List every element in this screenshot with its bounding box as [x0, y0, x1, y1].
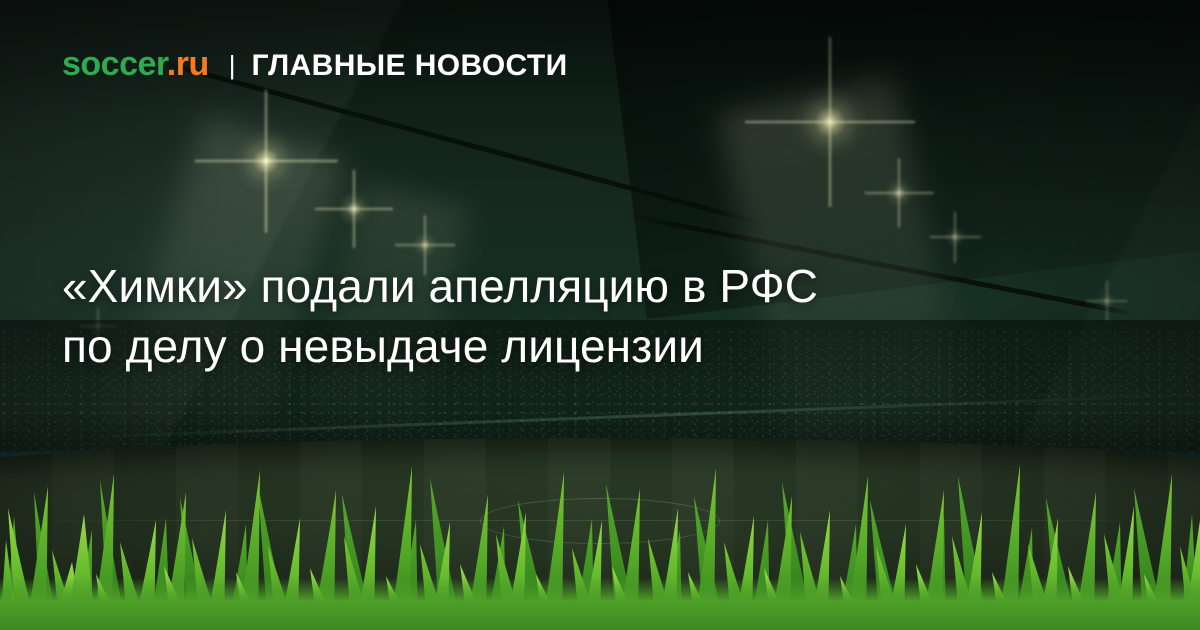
- soccer-ru-logo[interactable]: soccer.ru: [62, 47, 209, 81]
- header-separator: |: [229, 52, 236, 78]
- floodlight-icon: [337, 192, 371, 226]
- light-truss-icon: [150, 57, 769, 227]
- floodlight-icon: [884, 178, 914, 208]
- news-share-card: soccer.ru | ГЛАВНЫЕ НОВОСТИ «Химки» пода…: [0, 0, 1200, 630]
- perimeter-advertising-board: [0, 448, 1200, 460]
- brand-header: soccer.ru | ГЛАВНЫЕ НОВОСТИ: [62, 47, 568, 81]
- floodlight-icon: [944, 226, 966, 248]
- logo-suffix-text: .ru: [167, 45, 209, 83]
- headline-line-1: «Химки» подали апелляцию в РФС: [62, 256, 1102, 316]
- grass-base-mass: [0, 578, 1200, 630]
- floodlight-icon: [235, 130, 297, 192]
- football-pitch: [0, 438, 1200, 630]
- pitch-mow-stripes: [0, 438, 1200, 630]
- foreground-grass: [0, 420, 1200, 630]
- headline: «Химки» подали апелляцию в РФС по делу о…: [62, 256, 1102, 376]
- pitch-centre-circle: [480, 498, 720, 544]
- pitch-halfway-line: [0, 520, 1200, 521]
- stand-railing: [60, 393, 1189, 439]
- floodlight-icon: [793, 85, 867, 159]
- section-kicker: ГЛАВНЫЕ НОВОСТИ: [251, 51, 567, 81]
- floodlight-icon: [412, 232, 438, 258]
- logo-primary-text: soccer: [62, 45, 167, 83]
- headline-line-2: по делу о невыдаче лицензии: [62, 316, 1102, 376]
